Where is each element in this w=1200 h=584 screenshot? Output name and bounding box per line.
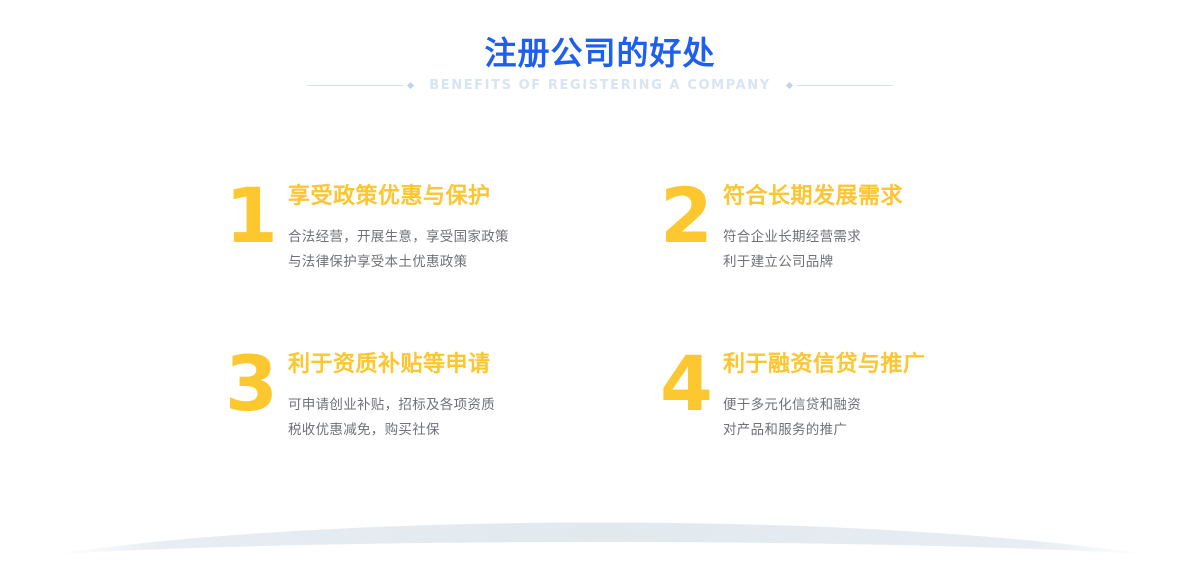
bottom-arc-decoration xyxy=(0,494,1200,584)
benefit-description: 符合企业长期经营需求 利于建立公司品牌 xyxy=(723,225,1083,275)
benefit-body: 符合长期发展需求 符合企业长期经营需求 利于建立公司品牌 xyxy=(723,182,1083,275)
decorative-rule-right xyxy=(787,81,893,91)
benefit-number: 3 xyxy=(225,342,283,426)
subtitle-row: BENEFITS OF REGISTERING A COMPANY xyxy=(0,74,1200,98)
benefit-item-3: 3 利于资质补贴等申请 可申请创业补贴，招标及各项资质 税收优惠减免，购买社保 xyxy=(225,350,655,470)
benefit-number: 2 xyxy=(660,174,718,258)
benefit-description: 便于多元化信贷和融资 对产品和服务的推广 xyxy=(723,393,1083,443)
diamond-dot-icon xyxy=(407,82,414,89)
benefit-desc-line: 便于多元化信贷和融资 xyxy=(723,393,1083,418)
benefit-item-1: 1 享受政策优惠与保护 合法经营，开展生意，享受国家政策 与法律保护享受本土优惠… xyxy=(225,182,655,302)
benefit-desc-line: 符合企业长期经营需求 xyxy=(723,225,1083,250)
benefit-title: 利于资质补贴等申请 xyxy=(288,350,648,380)
benefits-section: 注册公司的好处 BENEFITS OF REGISTERING A COMPAN… xyxy=(0,0,1200,584)
benefit-desc-line: 税收优惠减免，购买社保 xyxy=(288,418,648,443)
benefit-number: 4 xyxy=(660,342,718,426)
subtitle-english: BENEFITS OF REGISTERING A COMPANY xyxy=(429,74,771,98)
benefit-body: 享受政策优惠与保护 合法经营，开展生意，享受国家政策 与法律保护享受本土优惠政策 xyxy=(288,182,648,275)
arc-shape xyxy=(55,523,1145,555)
benefit-desc-line: 对产品和服务的推广 xyxy=(723,418,1083,443)
page-title: 注册公司的好处 xyxy=(0,33,1200,73)
rule-bar xyxy=(797,85,893,86)
benefit-desc-line: 可申请创业补贴，招标及各项资质 xyxy=(288,393,648,418)
benefits-grid: 1 享受政策优惠与保护 合法经营，开展生意，享受国家政策 与法律保护享受本土优惠… xyxy=(0,182,1200,482)
benefit-desc-line: 与法律保护享受本土优惠政策 xyxy=(288,250,648,275)
benefit-description: 合法经营，开展生意，享受国家政策 与法律保护享受本土优惠政策 xyxy=(288,225,648,275)
rule-bar xyxy=(307,85,403,86)
benefit-desc-line: 利于建立公司品牌 xyxy=(723,250,1083,275)
decorative-rule-left xyxy=(307,81,413,91)
benefit-item-2: 2 符合长期发展需求 符合企业长期经营需求 利于建立公司品牌 xyxy=(660,182,1090,302)
benefit-title: 符合长期发展需求 xyxy=(723,182,1083,212)
diamond-dot-icon xyxy=(786,82,793,89)
benefit-title: 享受政策优惠与保护 xyxy=(288,182,648,212)
benefit-body: 利于资质补贴等申请 可申请创业补贴，招标及各项资质 税收优惠减免，购买社保 xyxy=(288,350,648,443)
benefit-body: 利于融资信贷与推广 便于多元化信贷和融资 对产品和服务的推广 xyxy=(723,350,1083,443)
benefit-number: 1 xyxy=(225,174,283,258)
benefit-desc-line: 合法经营，开展生意，享受国家政策 xyxy=(288,225,648,250)
benefit-description: 可申请创业补贴，招标及各项资质 税收优惠减免，购买社保 xyxy=(288,393,648,443)
benefit-item-4: 4 利于融资信贷与推广 便于多元化信贷和融资 对产品和服务的推广 xyxy=(660,350,1090,470)
section-header: 注册公司的好处 BENEFITS OF REGISTERING A COMPAN… xyxy=(0,0,1200,110)
benefit-title: 利于融资信贷与推广 xyxy=(723,350,1083,380)
